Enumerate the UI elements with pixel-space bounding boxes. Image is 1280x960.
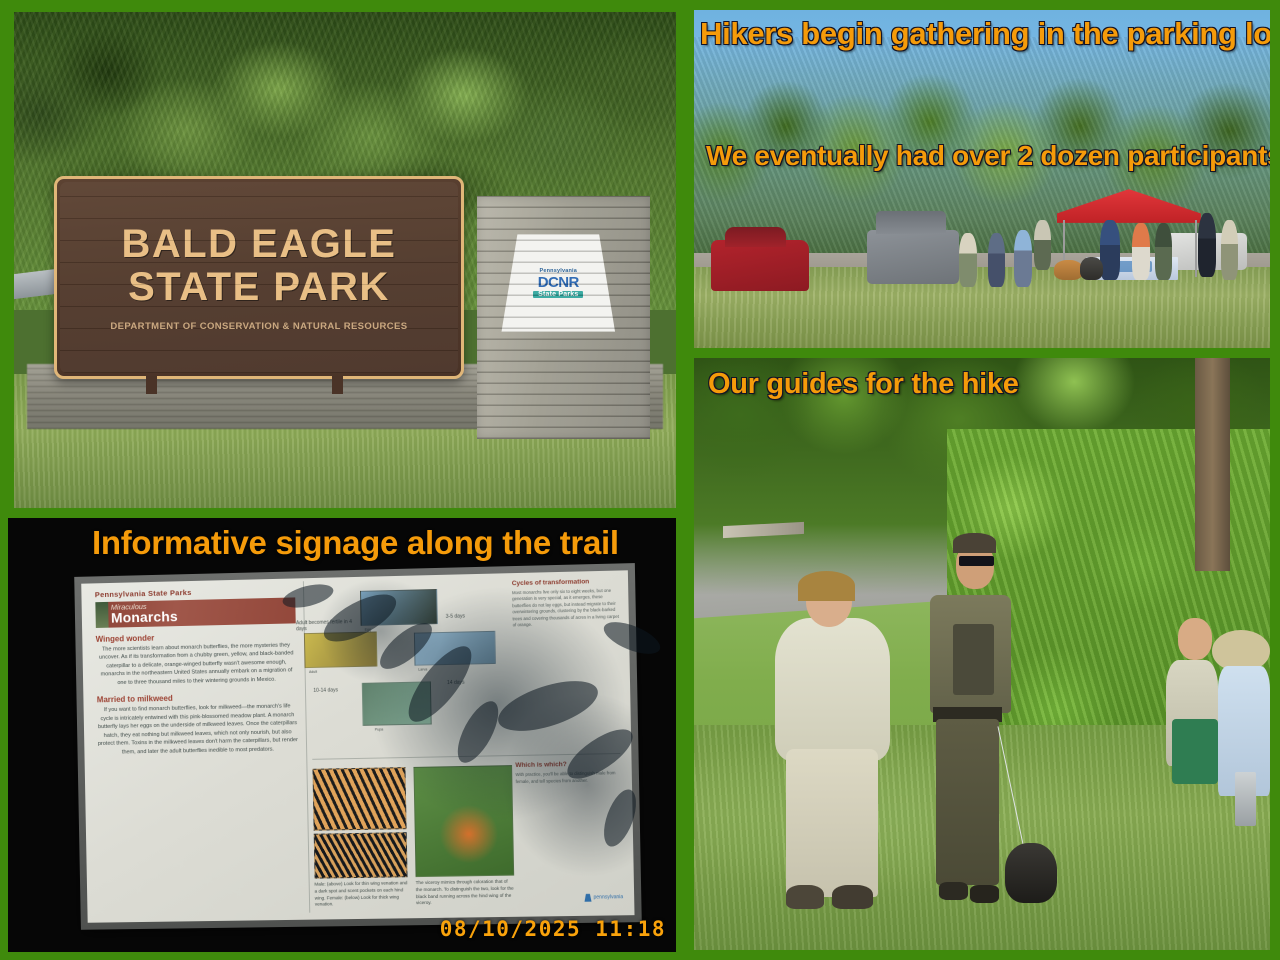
lifecycle-label-0: Adult becomes fertile in 4 days (296, 619, 357, 632)
participant (1034, 220, 1051, 271)
viceroy-photo (413, 766, 514, 877)
participant (1132, 223, 1150, 280)
dog-golden (1054, 260, 1083, 280)
keystone-agency-label: Pennsylvania (539, 268, 577, 274)
sign-section3-body: Most monarchs live only six to eight wee… (512, 588, 621, 629)
sign-section4-heading: Which is which? (515, 760, 623, 770)
sign-title-large: Monarchs (111, 607, 296, 626)
caption-wing-venation: Male: (above) Look for thin wing venatio… (314, 881, 407, 909)
guide-naturalist-pants (786, 749, 878, 897)
sign-section4-body: With practice, you'll be able to disting… (515, 770, 623, 785)
child-head (1178, 618, 1213, 659)
lifecycle-stage-larva: Larva (418, 668, 427, 672)
lifecycle-photo-larva (413, 630, 495, 666)
ranger-boot-right (970, 885, 999, 903)
participant (1014, 230, 1032, 287)
park-sign-line1: BALD EAGLE (121, 223, 396, 266)
caption-viceroy-mimicry: The viceroy mimics through coloration th… (415, 879, 515, 907)
participant (1100, 220, 1120, 281)
interpretive-sign-frame: Pennsylvania State Parks Miraculous Mona… (74, 563, 642, 930)
child-green-bag (1172, 719, 1218, 784)
sign-section1-body: The more scientists learn about monarch … (96, 641, 297, 688)
pennsylvania-logo-text: pennsylvania (593, 894, 623, 900)
ranger-tactical-vest (953, 624, 993, 695)
sunglasses-icon (959, 556, 994, 565)
lifecycle-photo-egg (360, 589, 438, 626)
water-bottle (1235, 772, 1255, 825)
lifecycle-stage-adult: Adult (309, 670, 317, 674)
park-sign-subline: DEPARTMENT OF CONSERVATION & NATURAL RES… (110, 321, 407, 332)
participant (988, 233, 1005, 287)
park-entrance-signboard: BALD EAGLE STATE PARK DEPARTMENT OF CONS… (54, 176, 464, 379)
park-sign-line2: STATE PARK (128, 266, 390, 309)
dog-black (1005, 843, 1057, 902)
wing-photo-female (313, 833, 407, 879)
photo-collage: Pennsylvania DCNR State Parks BALD EAGLE… (0, 0, 1280, 960)
photo-parking-lot: Hikers begin gathering in the parking lo… (694, 10, 1270, 348)
tree-trunk (1195, 358, 1230, 571)
stone-pillar: Pennsylvania DCNR State Parks (477, 196, 649, 439)
hiking-boot-right (832, 885, 872, 909)
sign-post-right (332, 376, 343, 394)
interpretive-sign-face: Pennsylvania State Parks Miraculous Mona… (81, 570, 634, 922)
parking-scene: Hikers begin gathering in the parking lo… (694, 10, 1270, 348)
grey-suv (867, 230, 959, 284)
participant (959, 233, 977, 287)
dog-dark (1080, 257, 1103, 281)
participant (1198, 213, 1216, 277)
photo-trail-signage: Pennsylvania State Parks Miraculous Mona… (8, 518, 676, 952)
signage-scene: Pennsylvania State Parks Miraculous Mona… (8, 518, 676, 952)
lifecycle-label-1: 3-5 days (445, 613, 464, 619)
dcnr-keystone-logo: Pennsylvania DCNR State Parks (501, 234, 615, 331)
ranger-hair (953, 533, 996, 553)
wing-photo-male (312, 768, 406, 831)
photo-park-entrance-sign: Pennsylvania DCNR State Parks BALD EAGLE… (14, 12, 676, 508)
sign-right-column-bottom: Which is which? With practice, you'll be… (515, 760, 623, 785)
lifecycle-stage-pupa: Pupa (375, 727, 383, 731)
red-suv (711, 240, 809, 291)
entrance-scene: Pennsylvania DCNR State Parks BALD EAGLE… (14, 12, 676, 508)
sign-lifecycle-column: Adult becomes fertile in 4 days 3-5 days… (303, 580, 509, 762)
participant (1155, 223, 1172, 280)
lifecycle-label-3: 10-14 days (313, 687, 338, 694)
sign-post-left (146, 376, 157, 394)
guide-naturalist-torso (775, 618, 890, 760)
keystone-dcnr-label: DCNR (538, 275, 579, 290)
keystone-stateparks-label: State Parks (533, 291, 583, 298)
ranger-pants (936, 719, 999, 885)
sign-title-band: Miraculous Monarchs (95, 597, 296, 628)
camera-timestamp: 08/10/2025 11:18 (440, 917, 666, 941)
hiking-boot-left (786, 885, 823, 909)
participant (1221, 220, 1238, 281)
lifecycle-photo-adult (304, 631, 377, 668)
lifecycle-stage-egg: Egg (365, 628, 371, 632)
ranger-boot-left (939, 882, 968, 900)
lifecycle-photo-pupa (362, 682, 432, 726)
guide-naturalist-hair (798, 571, 856, 601)
treeline (694, 37, 1270, 260)
photo-hike-guides: Our guides for the hike (694, 358, 1270, 950)
sign-section3-heading: Cycles of transformation (512, 577, 620, 588)
sign-section2-body: If you want to find monarch butterflies,… (97, 703, 298, 758)
canopy-leg-right (1195, 220, 1197, 277)
lifecycle-label-2: 14 days (447, 679, 465, 685)
guides-scene: Our guides for the hike (694, 358, 1270, 950)
keystone-icon (584, 894, 591, 902)
sign-left-column: Pennsylvania State Parks Miraculous Mona… (95, 585, 302, 915)
sign-right-column-top: Cycles of transformation Most monarchs l… (512, 577, 621, 629)
pennsylvania-logo: pennsylvania (584, 893, 623, 902)
